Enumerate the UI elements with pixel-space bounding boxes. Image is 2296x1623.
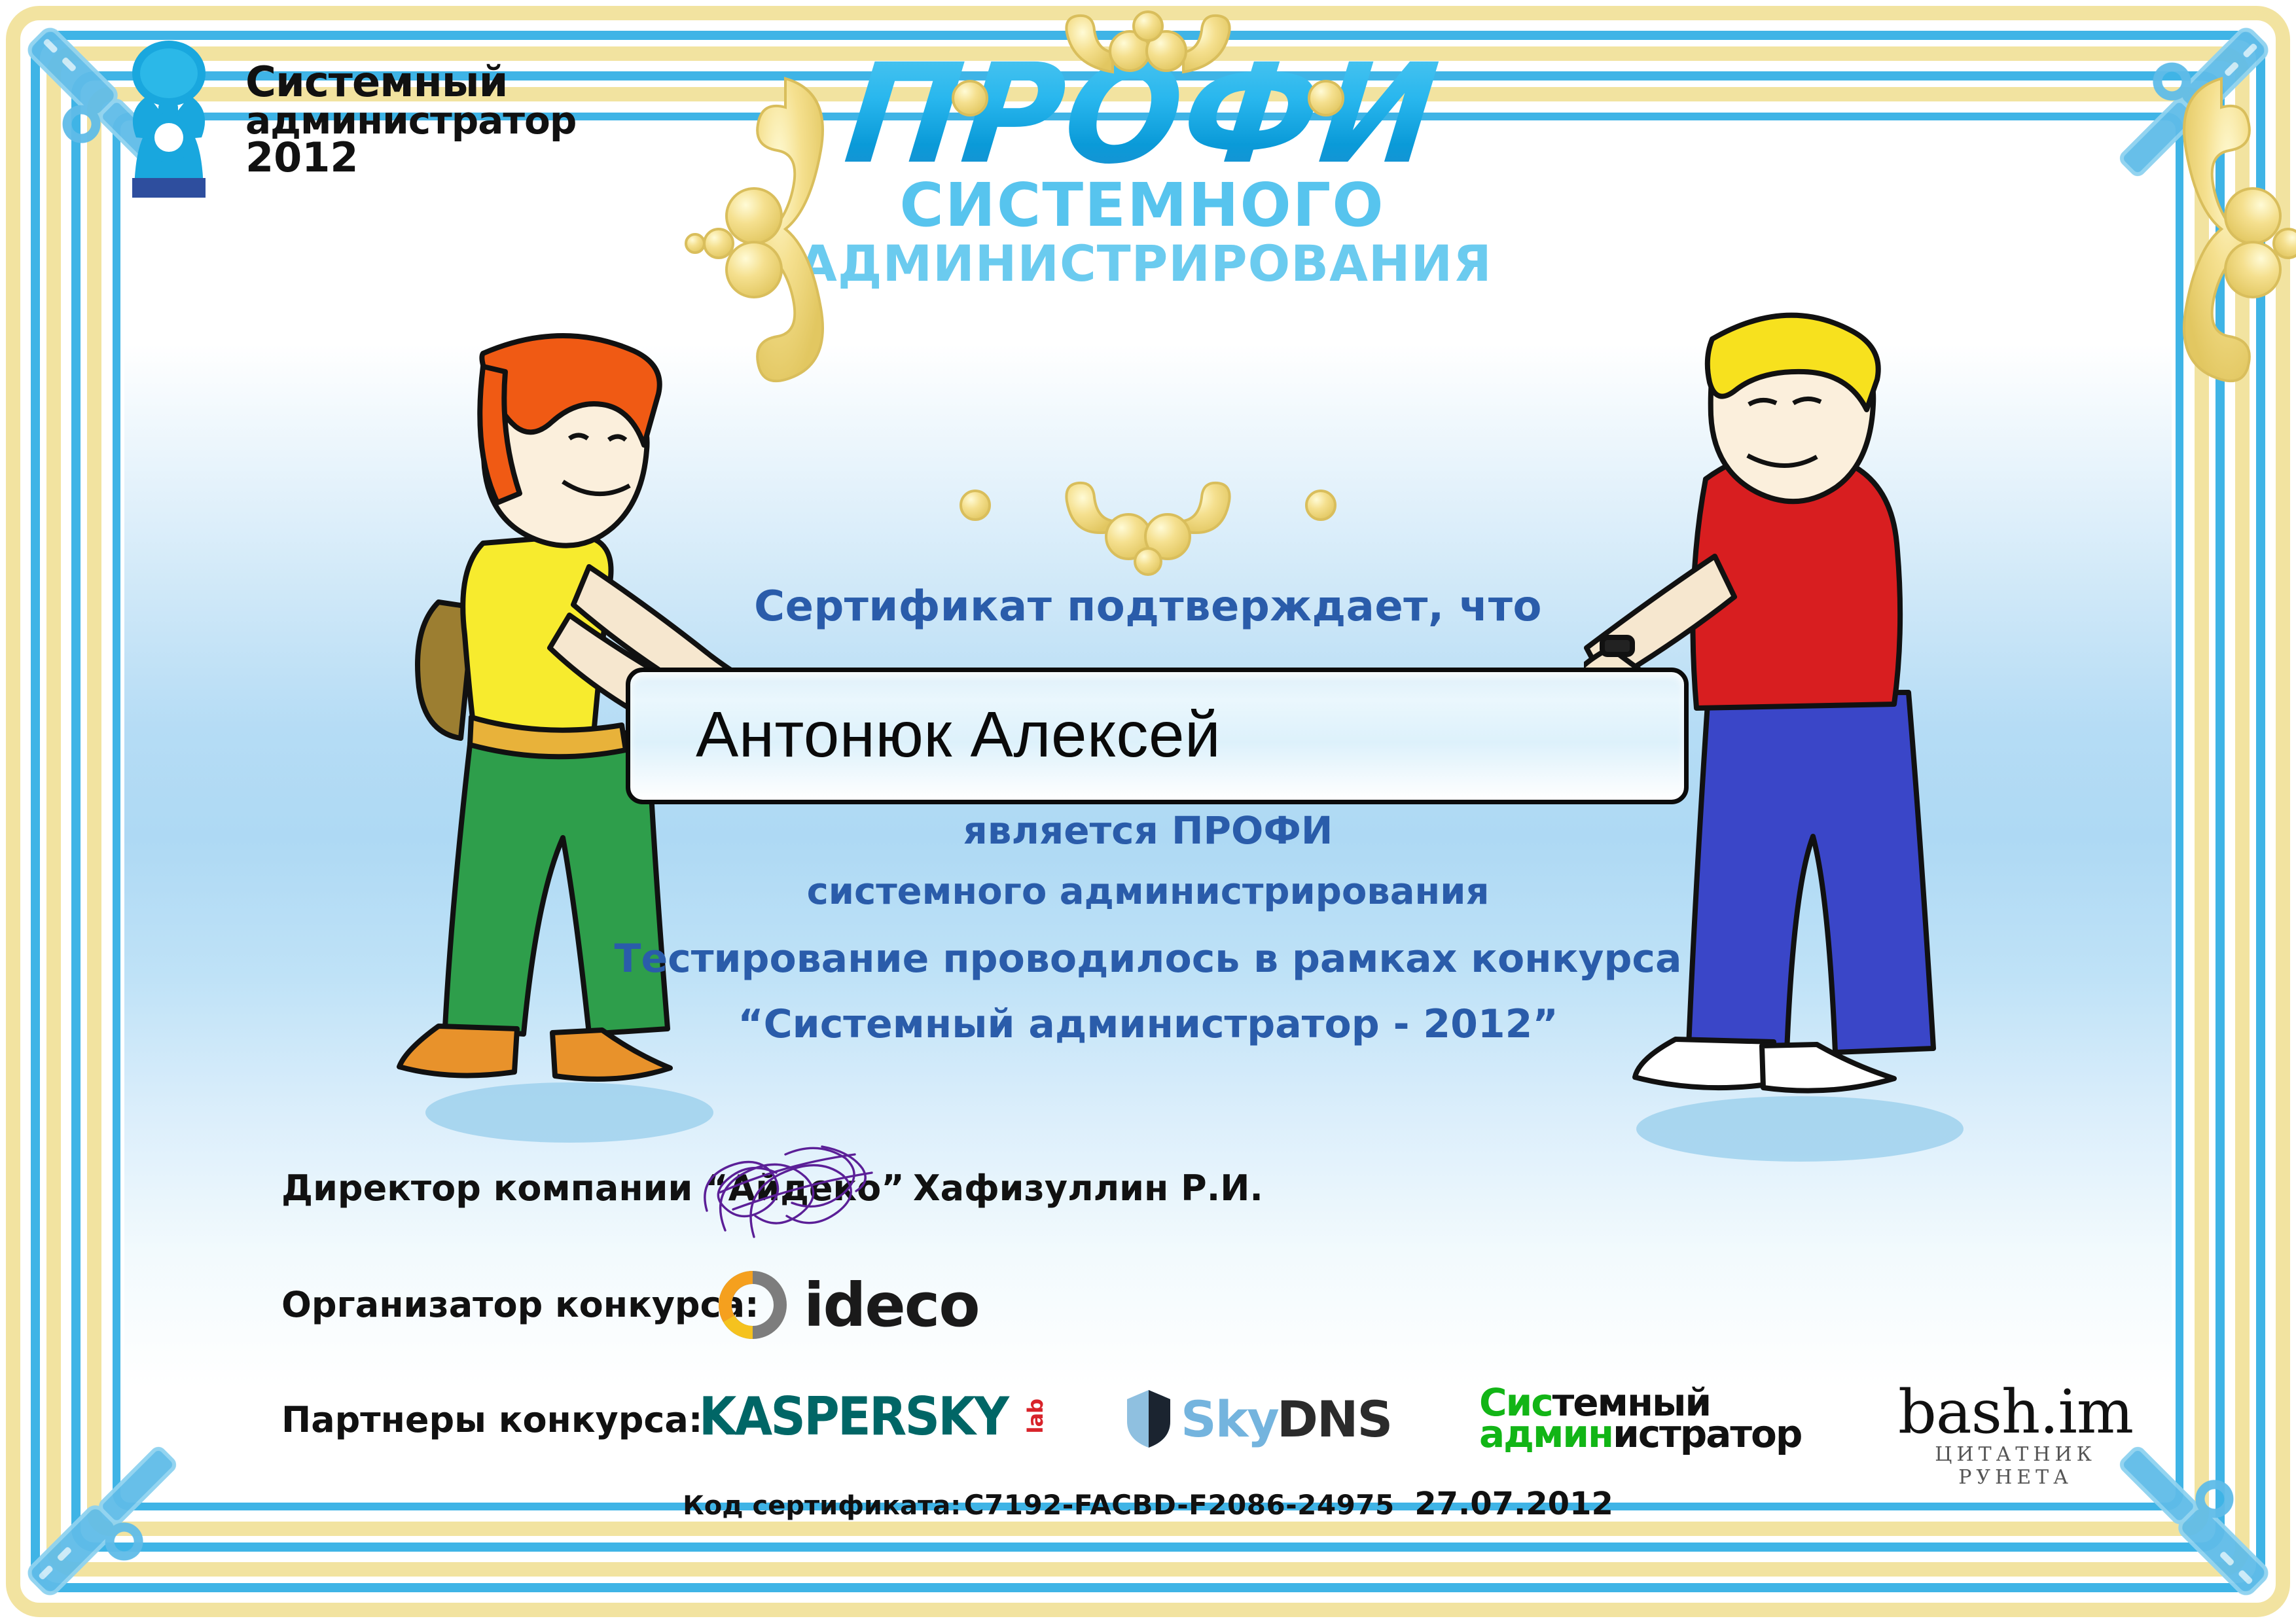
kaspersky-lab-suffix: lab bbox=[1023, 1399, 1048, 1433]
code-label: Код сертификата: bbox=[683, 1491, 961, 1521]
partners-label: Партнеры конкурса: bbox=[281, 1399, 702, 1440]
skydns-logo: Sky DNS bbox=[1126, 1389, 1391, 1449]
sa-mag-row2-black: истратор bbox=[1613, 1412, 1801, 1456]
bash-im-wordmark: bash.im bbox=[1898, 1377, 2133, 1447]
shield-icon bbox=[1126, 1389, 1172, 1449]
organizer-label: Организатор конкурса: bbox=[281, 1284, 759, 1325]
skydns-sky: Sky bbox=[1181, 1390, 1278, 1448]
logo-line-3: 2012 bbox=[245, 139, 576, 177]
recipient-name-plate: Антонюк Алексей bbox=[626, 668, 1689, 804]
ideco-wordmark: ideco bbox=[804, 1270, 979, 1340]
handwritten-signature bbox=[694, 1132, 884, 1250]
headline-sub-2: АДМИНИСТРИРОВАНИЯ bbox=[798, 238, 1486, 290]
signer-name: Хафизуллин Р.И. bbox=[913, 1168, 1263, 1209]
line-is-profi: является ПРОФИ bbox=[0, 808, 2296, 853]
sysadmin-day-logo: Системный администратор 2012 bbox=[98, 39, 465, 203]
confirm-line: Сертификат подтверждает, что bbox=[0, 582, 2296, 631]
ideco-ring-icon bbox=[713, 1266, 792, 1344]
partners-row: Партнеры конкурса: KASPERSKY lab Sky DNS… bbox=[281, 1381, 2049, 1472]
issue-date: 27.07.2012 bbox=[1414, 1486, 1613, 1522]
sa-mag-row2-green: админ bbox=[1479, 1412, 1613, 1456]
bash-im-tagline: ЦИТАТНИК РУНЕТА bbox=[1898, 1443, 2133, 1489]
certificate-code-line: Код сертификата: C7192-FACBD-F2086-24975… bbox=[0, 1486, 2296, 1522]
headline-profi: ПРОФИ bbox=[791, 46, 1493, 183]
line-testing: Тестирование проводилось в рамках конкур… bbox=[0, 936, 2296, 982]
certificate: Системный администратор 2012 ПРОФИ СИСТЕ… bbox=[0, 0, 2296, 1623]
kaspersky-wordmark: KASPERSKY bbox=[699, 1386, 1007, 1447]
headline-block: ПРОФИ СИСТЕМНОГО АДМИНИСТРИРОВАНИЯ bbox=[798, 46, 1486, 289]
kaspersky-lab-logo: KASPERSKY lab bbox=[687, 1386, 1048, 1447]
eskimo-mascot-icon bbox=[98, 39, 242, 203]
line-contest: “Системный администратор - 2012” bbox=[0, 1001, 2296, 1047]
bash-im-logo: bash.im ЦИТАТНИК РУНЕТА bbox=[1898, 1377, 2133, 1489]
line-sysadmin: системного администрирования bbox=[0, 870, 2296, 913]
ideco-logo: ideco bbox=[713, 1266, 979, 1344]
signature-row: Директор компании “Айдеко” Хафизуллин Р.… bbox=[281, 1158, 1590, 1243]
code-value: C7192-FACBD-F2086-24975 bbox=[964, 1489, 1395, 1521]
logo-line-1: Системный bbox=[245, 63, 576, 103]
sysadmin-magazine-logo: Системный администратор bbox=[1479, 1387, 1801, 1450]
organizer-row: Организатор конкурса: ideco bbox=[281, 1270, 1590, 1368]
skydns-dns: DNS bbox=[1277, 1390, 1391, 1448]
recipient-name: Антонюк Алексей bbox=[696, 698, 1221, 772]
